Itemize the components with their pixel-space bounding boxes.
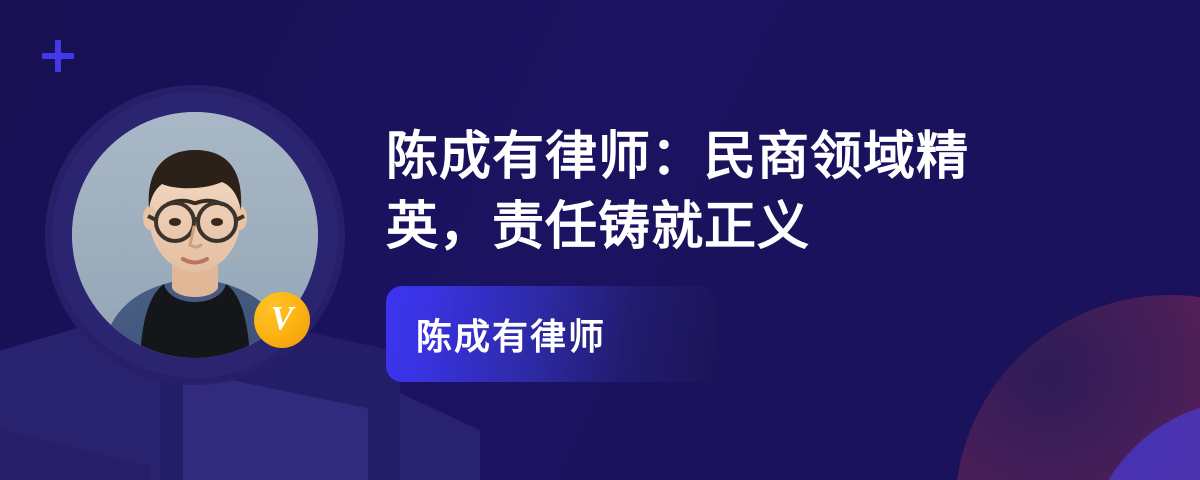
lawyer-name-button[interactable]: 陈成有律师 xyxy=(386,286,716,382)
verified-badge-glyph: V xyxy=(271,302,294,336)
verified-badge-icon: V xyxy=(254,292,310,348)
profile-banner: V 陈成有律师：民商领域精英，责任铸就正义 陈成有律师 xyxy=(0,0,1200,480)
banner-content: 陈成有律师：民商领域精英，责任铸就正义 陈成有律师 xyxy=(386,122,1176,382)
avatar[interactable]: V xyxy=(52,92,338,378)
page-title: 陈成有律师：民商领域精英，责任铸就正义 xyxy=(386,122,1026,262)
plus-icon xyxy=(42,40,74,72)
